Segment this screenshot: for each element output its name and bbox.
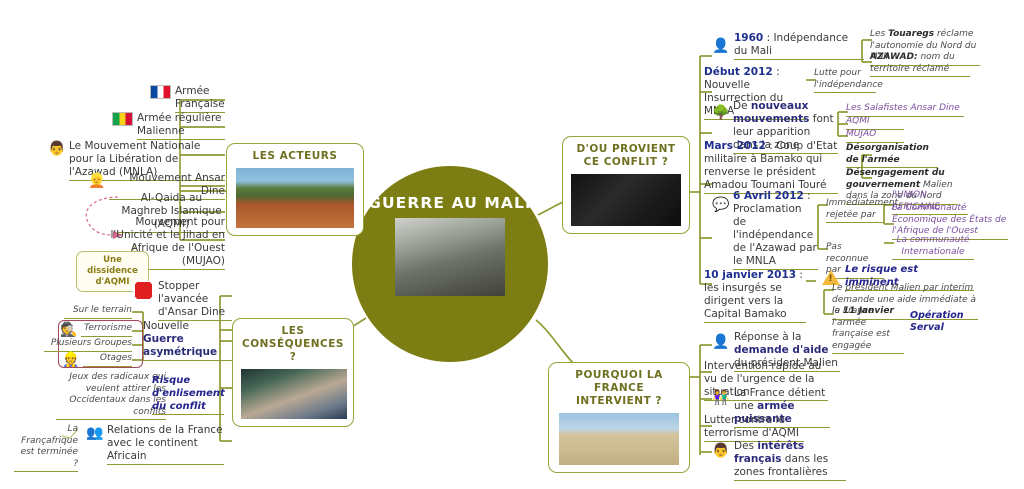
topic-label: POURQUOI LA FRANCE INTERVIENT ? bbox=[557, 369, 681, 408]
acteur-label: Armée Française bbox=[175, 85, 225, 113]
asym-prefix: Nouvelle bbox=[143, 320, 189, 332]
note-11-janvier-armee-engagee: le 11 Janvier l'armée française est enga… bbox=[832, 306, 904, 354]
consequence-label: Plusieurs Groupes bbox=[44, 338, 132, 352]
note-lutte-independance: Lutte pour l'indépendance bbox=[814, 68, 876, 93]
note-text: MUJAO bbox=[846, 129, 904, 143]
consequence-sur-le-terrain[interactable]: Sur le terrain bbox=[64, 305, 132, 319]
event-text: Proclamation de l'indépendance de l'Azaw… bbox=[733, 203, 817, 267]
topic-dou-provient-ce-conflit[interactable]: D'OU PROVIENT CE CONFLIT ? bbox=[562, 136, 690, 234]
old-man-icon: 👤 bbox=[712, 37, 730, 55]
businessman-icon: 👨 bbox=[712, 442, 730, 460]
note-pre: le bbox=[832, 306, 843, 316]
label-immediatement-rejetee: Immédiatement rejetée par bbox=[826, 198, 884, 223]
mali-flag-icon bbox=[112, 112, 133, 126]
event-text: les insurgés se dirigent vers la Capital… bbox=[704, 282, 787, 320]
label-text: Immédiatement rejetée par bbox=[826, 198, 884, 223]
consequence-label: Otages bbox=[83, 353, 132, 367]
handshake-africa-icon: 👥 bbox=[86, 424, 104, 442]
note-text: AQMI bbox=[846, 116, 904, 130]
soldier-icon: 👫 bbox=[712, 389, 730, 407]
note-desorganisation-armee: Désorganisation de l'armée bbox=[846, 143, 938, 168]
speech-person-icon: 💬 bbox=[712, 196, 730, 214]
note-azawad: AZAWAD: nom du territoire réclamé bbox=[870, 52, 970, 77]
acteur-armee-malienne[interactable]: Armée régulière Malienne bbox=[112, 112, 225, 140]
consequence-stopper-ansar-dine[interactable]: Stopper l'avancée d'Ansar Dine bbox=[133, 280, 232, 321]
consequence-guerre-asymetrique[interactable]: Nouvelle Guerre asymétrique bbox=[143, 320, 232, 361]
note-text: Les Salafistes Ansar Dine bbox=[846, 103, 964, 117]
terrorist-icon: 🕵 bbox=[60, 321, 78, 339]
note-salafistes-ansar-dine: Les Salafistes Ansar Dine bbox=[846, 103, 964, 117]
mindmap-canvas: GUERRE AU MALI LES ACTEURS D'OU PROVIENT… bbox=[0, 0, 1024, 489]
event-sep: : bbox=[804, 190, 811, 202]
asym-bold: Guerre asymétrique bbox=[143, 333, 217, 358]
event-date: Début 2012 bbox=[704, 66, 773, 78]
new-movements-icon: 🌳 bbox=[712, 104, 730, 122]
note-aqmi: AQMI bbox=[846, 116, 904, 130]
central-image bbox=[395, 218, 505, 296]
event-date: 1960 bbox=[734, 32, 763, 44]
note-text: La communauté Internationale bbox=[892, 235, 974, 260]
topic-image bbox=[236, 168, 354, 228]
event-date: 6 Avril 2012 bbox=[733, 190, 804, 202]
event-sep: : bbox=[796, 269, 803, 281]
topic-image bbox=[559, 413, 679, 465]
pourquoi-lutter-terrorisme[interactable]: Lutter contre le terrorisme d'AQMI bbox=[704, 414, 804, 442]
veiled-person-icon: 👱 bbox=[88, 172, 106, 190]
topic-label: D'OU PROVIENT CE CONFLIT ? bbox=[571, 143, 681, 169]
consequence-label: Relations de la France avec le continent… bbox=[107, 424, 224, 465]
event-date: 10 janvier 2013 bbox=[704, 269, 796, 281]
french-flag-icon bbox=[150, 85, 171, 99]
note-text: La Françafrique est terminée ? bbox=[14, 424, 78, 472]
topic-image bbox=[571, 174, 681, 226]
acteur-label: Armée régulière Malienne bbox=[137, 112, 225, 140]
consequence-relations-france-afrique[interactable]: 👥 Relations de la France avec le contine… bbox=[86, 424, 224, 465]
topic-label: LES CONSÉQUENCES ? bbox=[241, 325, 345, 364]
consequence-terrorisme[interactable]: 🕵 Terrorisme bbox=[60, 321, 132, 339]
note-mujao: MUJAO bbox=[846, 129, 904, 143]
note-bold: Touaregs bbox=[888, 29, 934, 39]
item-pre: Réponse à la bbox=[734, 331, 801, 343]
event-sep: : bbox=[773, 66, 780, 78]
topic-image bbox=[241, 369, 347, 419]
note-francafrique: La Françafrique est terminée ? bbox=[14, 424, 78, 472]
note-bold: Désorganisation de l'armée bbox=[846, 143, 929, 165]
pourquoi-interets-francais[interactable]: 👨 Des intérêts français dans les zones f… bbox=[712, 440, 846, 481]
note-text: Jeux des radicaux qui veulent attirer le… bbox=[56, 372, 166, 420]
acteur-armee-francaise[interactable]: Armée Française bbox=[150, 85, 225, 113]
consequence-label: Sur le terrain bbox=[64, 305, 132, 319]
consequence-label: Stopper l'avancée d'Ansar Dine bbox=[158, 280, 232, 321]
note-bold: 11 Janvier bbox=[843, 306, 894, 316]
person-red-icon: 👨 bbox=[48, 140, 66, 158]
central-topic[interactable]: GUERRE AU MALI bbox=[352, 166, 548, 362]
hostage-icon: 👷 bbox=[62, 351, 80, 369]
event-10-janvier-2013[interactable]: 10 janvier 2013 : les insurgés se dirige… bbox=[704, 269, 806, 323]
topic-pourquoi-la-france-intervient[interactable]: POURQUOI LA FRANCE INTERVIENT ? bbox=[548, 362, 690, 473]
stop-sign-icon bbox=[133, 280, 154, 301]
event-date: Mars 2012 bbox=[704, 140, 766, 152]
item-pre: Des bbox=[734, 440, 757, 452]
note-jeux-des-radicaux: Jeux des radicaux qui veulent attirer le… bbox=[56, 372, 166, 420]
note-bold: AZAWAD: bbox=[870, 52, 918, 62]
consequence-plusieurs-groupes[interactable]: Plusieurs Groupes bbox=[44, 338, 132, 352]
note-post: l'armée française est engagée bbox=[832, 318, 890, 351]
note-pre: Les bbox=[870, 29, 888, 39]
item-text: Lutter contre le terrorisme d'AQMI bbox=[704, 414, 804, 442]
topic-les-acteurs[interactable]: LES ACTEURS bbox=[226, 143, 364, 236]
topic-label: LES ACTEURS bbox=[235, 150, 355, 163]
risque-label: Risque d'enlisement du conflit bbox=[152, 375, 225, 412]
central-title: GUERRE AU MALI bbox=[368, 194, 532, 212]
note-operation-serval: Opération Serval bbox=[910, 310, 990, 334]
note-text: Lutte pour l'indépendance bbox=[814, 68, 876, 93]
event-sep: : bbox=[766, 140, 776, 152]
event-mars-2012[interactable]: Mars 2012 : Coup d'Etat militaire à Bama… bbox=[704, 140, 838, 194]
event-1960[interactable]: 👤 1960 : Indépendance du Mali bbox=[712, 32, 864, 60]
item-bold: demande d'aide bbox=[734, 344, 829, 356]
serval-label: Opération Serval bbox=[910, 310, 964, 333]
event-sep: : bbox=[763, 32, 773, 44]
consequence-label: Terrorisme bbox=[81, 323, 132, 337]
reponse-aide-icon: 👤 bbox=[712, 333, 730, 351]
consequence-risque-enlisement[interactable]: Risque d'enlisement du conflit bbox=[152, 374, 224, 415]
consequence-otages[interactable]: 👷 Otages bbox=[62, 351, 132, 369]
note-communaute-internationale: La communauté Internationale bbox=[892, 235, 974, 260]
topic-les-consequences[interactable]: LES CONSÉQUENCES ? bbox=[232, 318, 354, 427]
event-6-avril-2012[interactable]: 💬 6 Avril 2012 :Proclamation de l'indépe… bbox=[712, 190, 818, 270]
